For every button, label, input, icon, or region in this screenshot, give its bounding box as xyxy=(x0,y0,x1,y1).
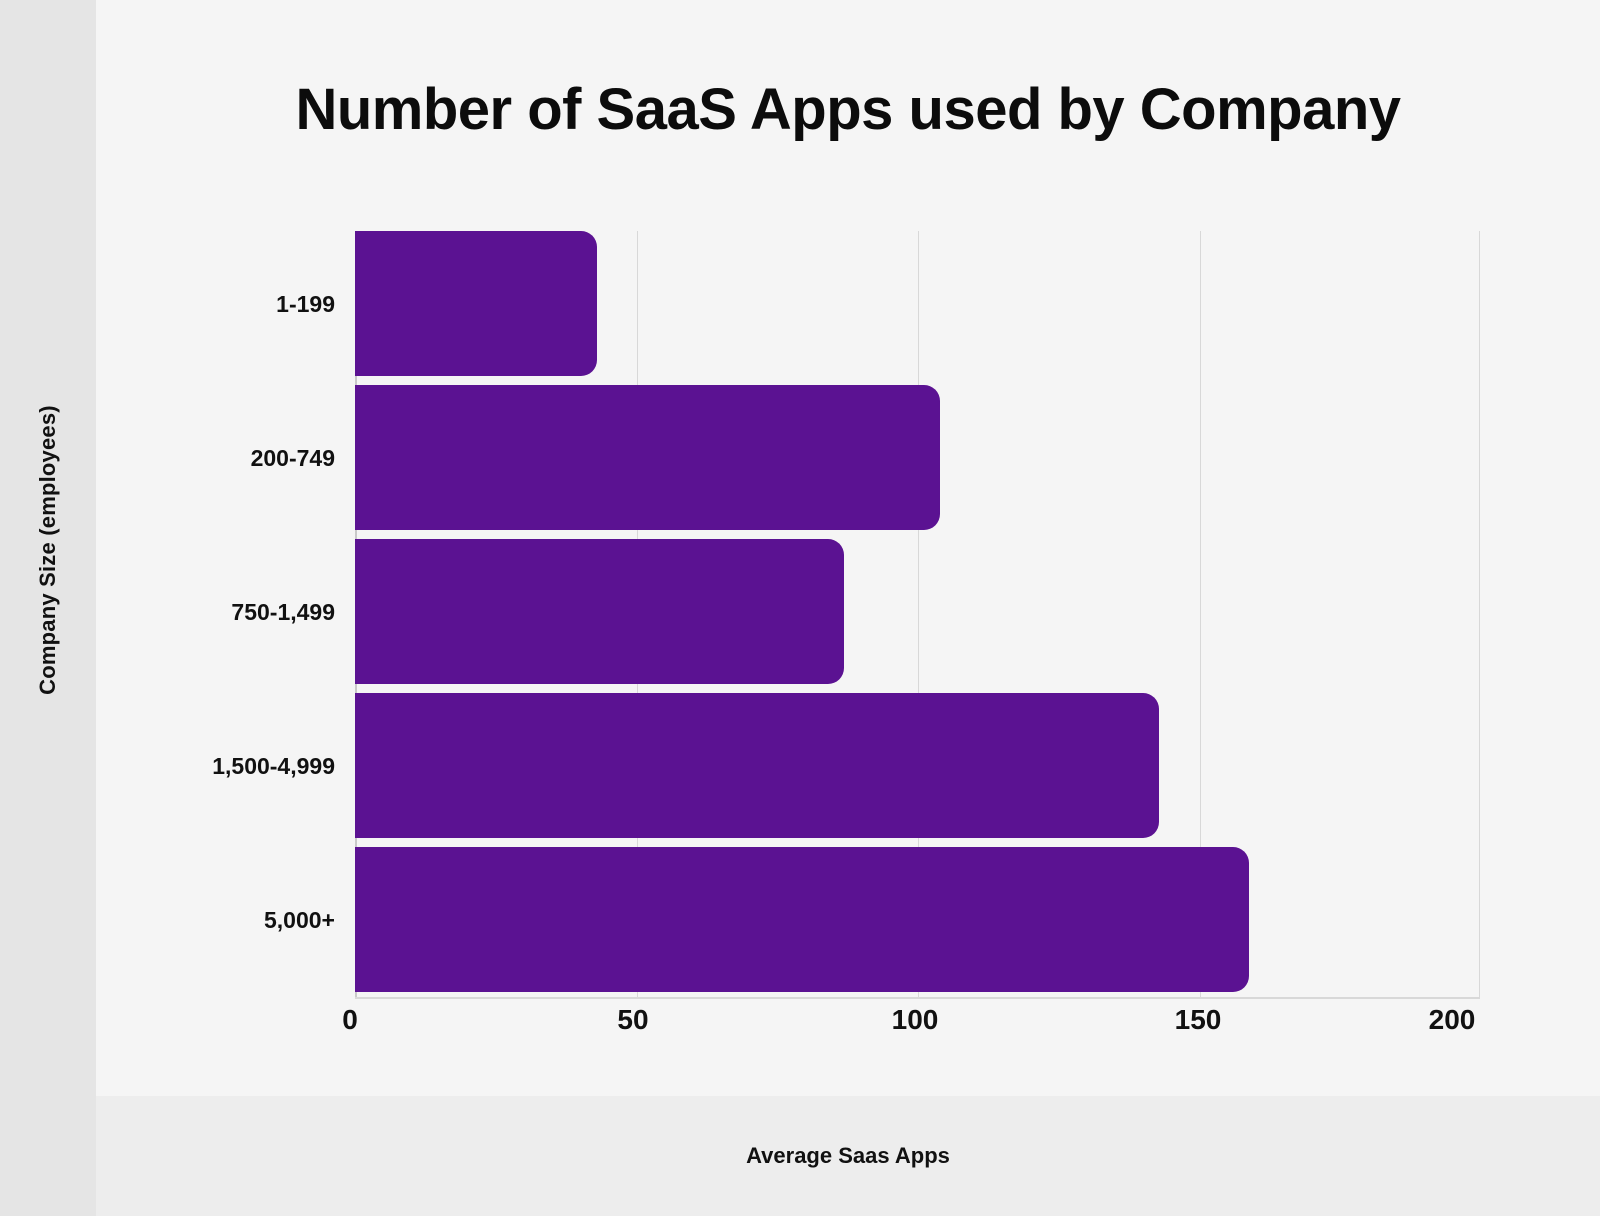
bar-750-1499[interactable] xyxy=(355,539,844,684)
bar-row xyxy=(355,231,597,376)
chart-root: Company Size (employees) Number of SaaS … xyxy=(0,0,1600,1216)
bar-5000-plus[interactable] xyxy=(355,847,1249,992)
y-axis-title-text: Company Size (employees) xyxy=(35,405,61,695)
bar-row xyxy=(355,539,844,684)
x-axis-title: Average Saas Apps xyxy=(96,1096,1600,1216)
x-tick-label-200: 200 xyxy=(1392,1004,1512,1036)
bar-row xyxy=(355,693,1159,838)
y-tick-label-2: 200-749 xyxy=(120,445,335,472)
bar-1-199[interactable] xyxy=(355,231,597,376)
bar-1500-4999[interactable] xyxy=(355,693,1159,838)
x-tick-label-0: 0 xyxy=(290,1004,410,1036)
y-tick-label-3: 750-1,499 xyxy=(120,599,335,626)
gridline-200 xyxy=(1479,231,1480,998)
x-tick-label-50: 50 xyxy=(573,1004,693,1036)
bar-200-749[interactable] xyxy=(355,385,940,530)
y-tick-label-1: 1-199 xyxy=(120,291,335,318)
y-tick-label-4: 1,500-4,999 xyxy=(120,753,335,780)
y-axis-panel: Company Size (employees) xyxy=(0,0,96,1216)
bar-row xyxy=(355,847,1249,992)
bar-row xyxy=(355,385,940,530)
chart-title: Number of SaaS Apps used by Company xyxy=(96,78,1600,142)
x-tick-label-100: 100 xyxy=(855,1004,975,1036)
y-axis-title: Company Size (employees) xyxy=(0,0,96,1100)
y-tick-label-5: 5,000+ xyxy=(120,907,335,934)
x-tick-label-150: 150 xyxy=(1138,1004,1258,1036)
plot-area xyxy=(355,231,1480,998)
